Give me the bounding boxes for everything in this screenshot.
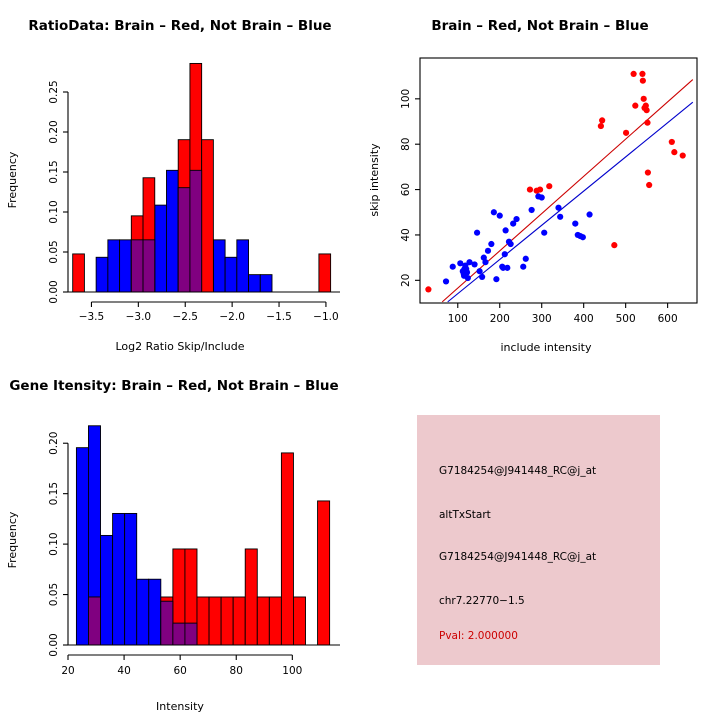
ratio-histogram-bars xyxy=(73,63,331,292)
scatter-frame xyxy=(420,58,697,303)
scatter-point xyxy=(465,275,471,281)
axis-tick-label: 0.00 xyxy=(48,280,60,303)
axis-tick-label: 80 xyxy=(230,665,243,677)
scatter-point xyxy=(555,205,561,211)
histogram-bar-overlap xyxy=(131,240,143,292)
gene-histogram-xlabel: Intensity xyxy=(156,700,204,713)
scatter-point xyxy=(450,264,456,270)
scatter-xaxis: 100200300400500600 xyxy=(448,303,678,325)
scatter-point xyxy=(631,71,637,77)
histogram-bar-not-brain xyxy=(155,205,167,292)
panel-gene-intensity-histogram: Gene Itensity: Brain – Red, Not Brain – … xyxy=(0,360,360,720)
histogram-bar-brain xyxy=(293,597,305,645)
histogram-bar-not-brain xyxy=(113,513,125,645)
axis-tick-label: 100 xyxy=(282,665,302,677)
histogram-bar-brain xyxy=(281,453,293,645)
histogram-bar-not-brain xyxy=(101,535,113,645)
histogram-bar-not-brain xyxy=(120,240,132,292)
scatter-point xyxy=(529,207,535,213)
axis-tick-label: 0.20 xyxy=(48,432,60,455)
probe-id-secondary: G7184254@J941448_RC@j_at xyxy=(439,551,596,563)
axis-tick-label: −3.5 xyxy=(79,311,105,323)
scatter-point xyxy=(471,261,477,267)
scatter-point xyxy=(443,278,449,284)
scatter-point xyxy=(586,211,592,217)
scatter-point xyxy=(671,149,677,155)
gene-histogram-xaxis: 20406080100 xyxy=(61,645,340,677)
scatter-point xyxy=(479,274,485,280)
scatter-point xyxy=(485,248,491,254)
gene-intensity-svg: Gene Itensity: Brain – Red, Not Brain – … xyxy=(0,360,360,720)
histogram-bar-not-brain xyxy=(260,275,272,292)
figure-canvas: RatioData: Brain – Red, Not Brain – Blue… xyxy=(0,0,720,720)
scatter-point xyxy=(488,241,494,247)
axis-tick-label: 60 xyxy=(173,665,186,677)
axis-tick-label: −3.0 xyxy=(126,311,152,323)
axis-tick-label: 0.05 xyxy=(48,240,60,263)
histogram-bar-brain xyxy=(221,597,233,645)
histogram-bar-not-brain xyxy=(137,579,149,645)
scatter-point xyxy=(513,216,519,222)
probe-id-primary: G7184254@J941448_RC@j_at xyxy=(439,465,596,477)
ratio-histogram-title: RatioData: Brain – Red, Not Brain – Blue xyxy=(28,18,331,34)
histogram-bar-overlap xyxy=(161,601,173,645)
axis-tick-label: 600 xyxy=(658,313,678,325)
plot-frame xyxy=(420,58,697,303)
axis-tick-label: 0.15 xyxy=(48,482,60,505)
histogram-bar-not-brain xyxy=(76,448,88,645)
axis-tick-label: 60 xyxy=(400,183,412,196)
gene-histogram-ylabel: Frequency xyxy=(6,511,19,568)
histogram-bar-overlap xyxy=(185,623,197,645)
scatter-point xyxy=(572,221,578,227)
scatter-point xyxy=(482,259,488,265)
scatter-point xyxy=(537,186,543,192)
histogram-bar-not-brain xyxy=(249,275,261,292)
scatter-point xyxy=(640,78,646,84)
axis-tick-label: 0.25 xyxy=(48,80,60,103)
scatter-points xyxy=(425,71,686,293)
scatter-title: Brain – Red, Not Brain – Blue xyxy=(431,18,648,34)
axis-tick-label: 0.05 xyxy=(48,583,60,606)
axis-tick-label: −2.5 xyxy=(172,311,198,323)
scatter-point xyxy=(541,230,547,236)
histogram-bar-overlap xyxy=(190,170,202,292)
histogram-bar-not-brain xyxy=(96,257,108,292)
histogram-bar-brain xyxy=(257,597,269,645)
histogram-bar-brain xyxy=(269,597,281,645)
scatter-point xyxy=(523,256,529,262)
scatter-point xyxy=(497,213,503,219)
scatter-point xyxy=(632,103,638,109)
scatter-xlabel: include intensity xyxy=(500,341,592,354)
histogram-bar-not-brain xyxy=(225,257,237,292)
axis-tick-label: 100 xyxy=(400,89,412,109)
axis-tick-label: 500 xyxy=(616,313,636,325)
axis-tick-label: 0.15 xyxy=(48,160,60,183)
ratio-histogram-xaxis: −3.5−3.0−2.5−2.0−1.5−1.0 xyxy=(68,292,340,323)
scatter-point xyxy=(504,265,510,271)
histogram-bar-not-brain xyxy=(237,240,249,292)
histogram-bar-not-brain xyxy=(149,579,161,645)
histogram-bar-brain xyxy=(209,597,221,645)
ratio-histogram-yaxis: 0.000.050.100.150.200.25 xyxy=(48,80,68,303)
scatter-point xyxy=(527,186,533,192)
scatter-point xyxy=(464,269,470,275)
panel-intensity-scatter: Brain – Red, Not Brain – Blue include in… xyxy=(360,0,720,360)
axis-tick-label: 0.10 xyxy=(48,200,60,223)
axis-tick-label: 0.00 xyxy=(48,633,60,656)
ratio-histogram-xlabel: Log2 Ratio Skip/Include xyxy=(115,340,244,353)
scatter-point xyxy=(645,169,651,175)
histogram-bar-overlap xyxy=(178,188,190,292)
panel-probe-info: G7184254@J941448_RC@j_at altTxStart G718… xyxy=(417,415,660,665)
histogram-bar-overlap xyxy=(143,240,155,292)
ratio-histogram-svg: RatioData: Brain – Red, Not Brain – Blue… xyxy=(0,0,360,360)
axis-tick-label: 40 xyxy=(400,228,412,241)
histogram-bar-brain xyxy=(318,501,330,645)
scatter-point xyxy=(546,183,552,189)
histogram-bar-not-brain xyxy=(108,240,120,292)
scatter-point xyxy=(474,230,480,236)
histogram-bar-overlap xyxy=(88,597,100,645)
axis-tick-label: 400 xyxy=(574,313,594,325)
intensity-scatter-svg: Brain – Red, Not Brain – Blue include in… xyxy=(360,0,720,360)
axis-tick-label: 0.20 xyxy=(48,120,60,143)
scatter-point xyxy=(557,214,563,220)
scatter-point xyxy=(491,209,497,215)
pvalue-label: Pval: 2.000000 xyxy=(439,630,518,642)
histogram-bar-not-brain xyxy=(166,170,178,292)
scatter-point xyxy=(644,107,650,113)
scatter-point xyxy=(599,117,605,123)
scatter-point xyxy=(680,152,686,158)
histogram-bar-brain xyxy=(319,254,331,292)
scatter-point xyxy=(598,123,604,129)
axis-tick-label: 300 xyxy=(532,313,552,325)
gene-histogram-bars xyxy=(76,426,329,645)
genomic-location: chr7.22770−1.5 xyxy=(439,595,525,607)
scatter-ylabel: skip intensity xyxy=(368,143,381,217)
event-type: altTxStart xyxy=(439,509,491,521)
regression-line xyxy=(448,102,693,302)
gene-histogram-title: Gene Itensity: Brain – Red, Not Brain – … xyxy=(9,378,338,394)
histogram-bar-overlap xyxy=(173,623,185,645)
scatter-point xyxy=(493,276,499,282)
axis-tick-label: 20 xyxy=(400,274,412,287)
scatter-point xyxy=(669,139,675,145)
scatter-point xyxy=(611,242,617,248)
axis-tick-label: 20 xyxy=(61,665,74,677)
ratio-histogram-ylabel: Frequency xyxy=(6,151,19,208)
axis-tick-label: −2.0 xyxy=(219,311,245,323)
histogram-bar-brain xyxy=(202,140,214,292)
scatter-point xyxy=(639,71,645,77)
axis-tick-label: 40 xyxy=(117,665,130,677)
scatter-yaxis: 20406080100 xyxy=(400,89,420,287)
scatter-point xyxy=(623,130,629,136)
axis-tick-label: 200 xyxy=(490,313,510,325)
panel-ratio-histogram: RatioData: Brain – Red, Not Brain – Blue… xyxy=(0,0,360,360)
axis-tick-label: 100 xyxy=(448,313,468,325)
histogram-bar-brain xyxy=(245,549,257,645)
scatter-point xyxy=(641,96,647,102)
axis-tick-label: −1.5 xyxy=(266,311,292,323)
scatter-point xyxy=(502,251,508,257)
scatter-point xyxy=(646,182,652,188)
histogram-bar-brain xyxy=(197,597,209,645)
axis-tick-label: −1.0 xyxy=(313,311,339,323)
histogram-bar-not-brain xyxy=(125,513,137,645)
axis-tick-label: 0.10 xyxy=(48,532,60,555)
scatter-point xyxy=(644,120,650,126)
scatter-point xyxy=(508,241,514,247)
scatter-point xyxy=(520,264,526,270)
histogram-bar-brain xyxy=(73,254,85,292)
gene-histogram-yaxis: 0.000.050.100.150.20 xyxy=(48,432,68,657)
scatter-point xyxy=(503,227,509,233)
scatter-point xyxy=(580,234,586,240)
scatter-point xyxy=(476,268,482,274)
scatter-point xyxy=(539,194,545,200)
histogram-bar-brain xyxy=(233,597,245,645)
scatter-point xyxy=(425,286,431,292)
axis-tick-label: 80 xyxy=(400,138,412,151)
histogram-bar-not-brain xyxy=(213,240,225,292)
